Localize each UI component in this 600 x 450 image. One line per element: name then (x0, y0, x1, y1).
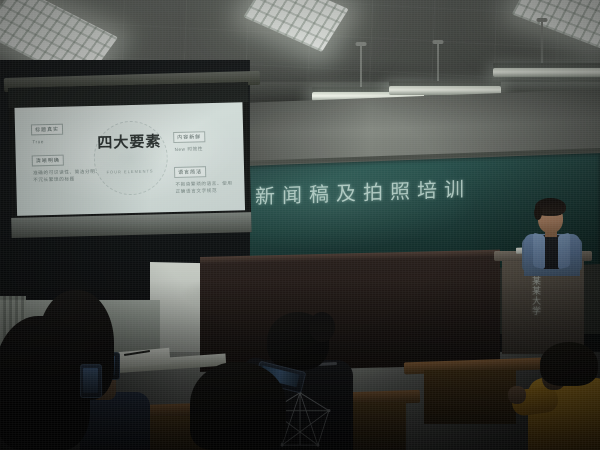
student-desk-front (424, 370, 516, 424)
hanging-tube-light-icon (541, 20, 543, 72)
slide-item-tag: 内容新鲜 (173, 131, 205, 143)
light-tube (493, 68, 600, 77)
student-hair-side (309, 312, 335, 342)
student-right (520, 342, 600, 450)
slide-item-body: True (32, 137, 90, 145)
student-hair (190, 362, 286, 450)
student-front-left-a (0, 316, 90, 450)
presenter (514, 198, 590, 274)
classroom-photo: 院新闻稿及拍照培训 四大要素 FOUR ELEMENTS 标题真实 True 清… (0, 0, 600, 450)
presenter-lapel-left (533, 233, 545, 270)
slide-item-tag: 语言简洁 (174, 166, 206, 178)
slide-item-tag: 清晰明确 (32, 155, 64, 167)
student-hair (540, 342, 598, 386)
student-body (80, 392, 150, 450)
student-hand (508, 386, 526, 404)
hanging-tube-light-icon (360, 44, 362, 96)
student-hair (0, 316, 90, 450)
phone-screen (83, 368, 98, 393)
podium-side-text: 某某大学 (512, 276, 542, 316)
slide-item-body: New 时效性 (174, 145, 230, 153)
projection-screen: 四大要素 FOUR ELEMENTS 标题真实 True 清晰明确 准确的可识读… (8, 82, 252, 238)
presenter-lapel-right (558, 233, 570, 270)
slide-center-title: 四大要素 (95, 134, 163, 152)
hanging-tube-light-icon (437, 42, 439, 90)
slide-item-body: 不拖沓繁琐的语言、使用正确语言文字规范 (175, 179, 235, 194)
slide-item-body: 准确的可识读性、简洁分明、不冗长繁琐的标题 (33, 168, 103, 184)
slide-item-tag: 标题真实 (31, 124, 63, 136)
presenter-glasses-icon (540, 214, 561, 220)
student-center-front (190, 362, 286, 450)
smartphone-held[interactable] (80, 364, 102, 398)
presentation-slide: 四大要素 FOUR ELEMENTS 标题真实 True 清晰明确 准确的可识读… (14, 102, 245, 216)
